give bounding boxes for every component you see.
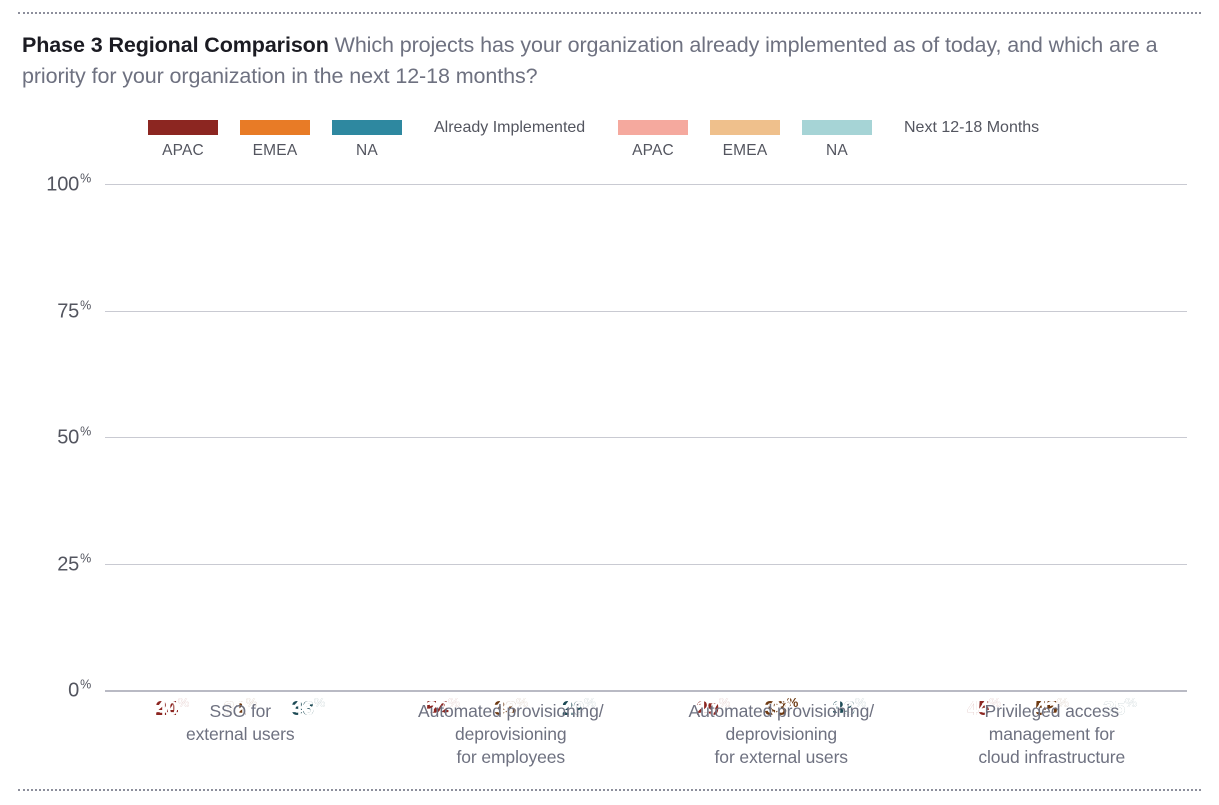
y-axis-tick-value: 100: [46, 173, 79, 195]
legend-group-title: Already Implemented: [434, 119, 585, 137]
legend-swatch-icon: [332, 120, 402, 135]
y-axis-tick-unit: %: [80, 298, 91, 312]
y-axis-tick-unit: %: [80, 172, 91, 186]
legend-item-label: APAC: [632, 142, 674, 160]
y-axis-tick-unit: %: [80, 551, 91, 565]
y-axis-tick-value: 50: [57, 426, 79, 448]
bottom-divider: [18, 789, 1201, 791]
y-axis-tick-value: 0: [68, 679, 79, 701]
legend-group-title: Next 12-18 Months: [904, 119, 1039, 137]
x-axis-category-label: Privileged access management for cloud i…: [917, 700, 1188, 769]
gridline-25: 25%: [105, 564, 1187, 565]
legend-item-label: EMEA: [253, 142, 298, 160]
page-title: Phase 3 Regional Comparison Which projec…: [22, 30, 1182, 92]
x-axis-category-label: Automated provisioning/ deprovisioning f…: [376, 700, 647, 769]
y-axis-tick-unit: %: [80, 425, 91, 439]
legend-group-next: APACEMEANANext 12-18 Months: [618, 120, 1039, 160]
legend-swatch-icon: [148, 120, 218, 135]
legend-item-apac[interactable]: APAC: [618, 120, 688, 160]
legend-item-apac[interactable]: APAC: [148, 120, 218, 160]
gridline-0: 0%: [105, 690, 1187, 692]
legend-item-label: NA: [826, 142, 848, 160]
x-axis-category-label: Automated provisioning/ deprovisioning f…: [646, 700, 917, 769]
x-axis-category-label: SSO for external users: [105, 700, 376, 769]
legend-swatch-icon: [710, 120, 780, 135]
legend-swatch-icon: [240, 120, 310, 135]
y-axis-tick-value: 25: [57, 553, 79, 575]
y-axis-tick-unit: %: [80, 678, 91, 692]
legend-item-emea[interactable]: EMEA: [710, 120, 780, 160]
legend-swatch-icon: [618, 120, 688, 135]
y-axis-tick-25: 25%: [57, 551, 91, 576]
title-strong: Phase 3 Regional Comparison: [22, 33, 329, 57]
y-axis-tick-100: 100%: [46, 172, 91, 197]
legend-group-implemented: APACEMEANAAlready Implemented: [148, 120, 585, 160]
top-divider: [18, 12, 1201, 14]
gridline-75: 75%: [105, 311, 1187, 312]
y-axis-tick-value: 75: [57, 300, 79, 322]
gridline-100: 100%: [105, 184, 1187, 185]
legend-swatch-icon: [802, 120, 872, 135]
y-axis-tick-50: 50%: [57, 425, 91, 450]
legend-item-label: EMEA: [723, 142, 768, 160]
legend-item-label: APAC: [162, 142, 204, 160]
legend-item-na[interactable]: NA: [332, 120, 402, 160]
y-axis-tick-75: 75%: [57, 298, 91, 323]
legend-item-emea[interactable]: EMEA: [240, 120, 310, 160]
category-labels: SSO for external usersAutomated provisio…: [105, 700, 1187, 769]
y-axis-tick-0: 0%: [68, 678, 91, 703]
legend-item-na[interactable]: NA: [802, 120, 872, 160]
chart-page: Phase 3 Regional Comparison Which projec…: [0, 0, 1219, 805]
plot-area: 24%40%31%32%33%46%54%22%33%42%29%40%29%1…: [105, 184, 1187, 690]
gridline-50: 50%: [105, 437, 1187, 438]
legend-item-label: NA: [356, 142, 378, 160]
chart-legend: APACEMEANAAlready ImplementedAPACEMEANAN…: [0, 120, 1219, 168]
